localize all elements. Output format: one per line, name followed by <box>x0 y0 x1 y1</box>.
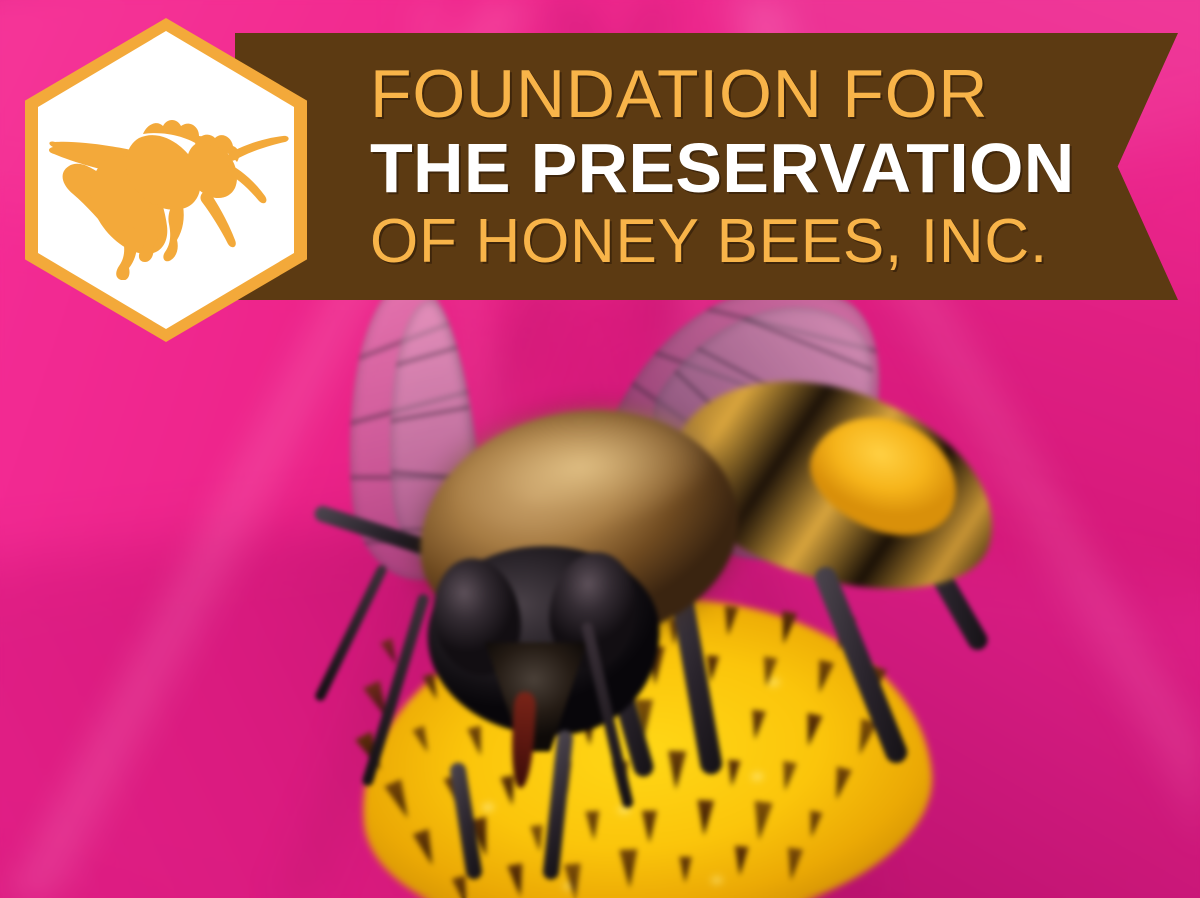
bee-silhouette-icon <box>43 90 291 280</box>
bee-foundation-banner-graphic: FOUNDATION FOR THE PRESERVATION OF HONEY… <box>0 0 1200 898</box>
title-line-1: FOUNDATION FOR <box>370 61 1070 128</box>
title-line-2: THE PRESERVATION <box>370 134 1070 203</box>
banner-title-block: FOUNDATION FOR THE PRESERVATION OF HONEY… <box>370 33 1070 300</box>
title-line-3: OF HONEY BEES, INC. <box>370 212 1070 273</box>
organization-logo-badge <box>25 18 307 342</box>
bee-leg-mid-right <box>811 564 910 767</box>
bee-antenna-left-outer <box>314 563 389 702</box>
honey-bee <box>250 290 1010 850</box>
bee-proboscis <box>510 691 537 788</box>
bee-antenna-left <box>361 593 430 787</box>
